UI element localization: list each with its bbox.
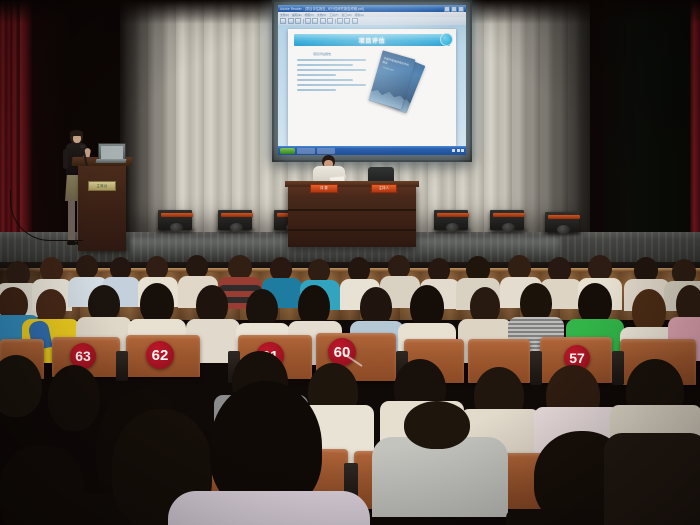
pdf-window-titlebar: Adobe Reader - [项目评估报告_可行性研究报告终稿.pdf] xyxy=(278,5,466,12)
head-table: 评 委 主持人 xyxy=(288,185,416,247)
podium-plaque: 主席台 xyxy=(88,181,116,191)
nameplate-left-text: 评 委 xyxy=(311,185,337,192)
monitor-grille xyxy=(437,213,469,217)
monitor-grille xyxy=(493,213,525,217)
prev-page-icon[interactable] xyxy=(337,18,343,24)
volume-icon[interactable] xyxy=(452,149,455,152)
table-panel-line xyxy=(288,229,416,231)
stage-monitor-speaker xyxy=(156,205,194,230)
red-curtain-right xyxy=(690,0,700,248)
menu-item-document[interactable]: 文档(D) xyxy=(317,13,326,17)
network-icon[interactable] xyxy=(457,149,460,152)
slide-text-line xyxy=(297,74,336,76)
taskbar-item-adobe-reader[interactable] xyxy=(297,148,315,154)
slide-text-line xyxy=(297,84,366,86)
projection-screen: Adobe Reader - [项目评估报告_可行性研究报告终稿.pdf] 文件… xyxy=(272,0,472,162)
podium-laptop xyxy=(96,143,126,165)
stage-monitor-speaker xyxy=(488,205,526,230)
monitor-body xyxy=(158,210,192,230)
taskbar-item-powerpoint[interactable] xyxy=(317,148,335,154)
audience-head xyxy=(76,255,98,279)
monitor-driver-icon xyxy=(502,223,515,232)
window-controls[interactable] xyxy=(444,6,464,12)
nameplate-right-text: 主持人 xyxy=(372,185,396,192)
save-icon[interactable] xyxy=(295,18,301,24)
seat-armrest xyxy=(530,351,542,385)
menu-item-help[interactable]: 帮助(H) xyxy=(355,13,364,17)
presenter-shoe xyxy=(67,241,76,245)
slide-text-line xyxy=(297,69,366,71)
toolbar-separator-2 xyxy=(335,19,336,24)
foreground-head-gray xyxy=(404,401,470,449)
slide-title: 项目评估 xyxy=(359,36,385,45)
menu-item-window[interactable]: 窗口(W) xyxy=(341,13,351,17)
seat-number-60: 60 xyxy=(328,338,356,366)
dark-curtain-right xyxy=(604,0,694,250)
slide-header-banner: 项目评估 xyxy=(294,34,450,46)
slide-bullet-list: 项目评估报告 xyxy=(297,52,369,94)
slide-logo-icon xyxy=(440,33,453,46)
stage-monitor-speaker xyxy=(543,207,581,232)
booklet-wave-graphic xyxy=(369,80,407,109)
pdf-document-area[interactable]: 项目评估 项目评估报告 xyxy=(278,25,466,146)
system-tray[interactable] xyxy=(452,149,464,152)
head-table-top xyxy=(285,181,419,187)
hand-tool-icon[interactable] xyxy=(312,18,318,24)
select-tool-icon[interactable] xyxy=(305,18,311,24)
curtain-left-shadow xyxy=(120,0,180,232)
slide-text-line xyxy=(297,64,353,66)
start-button[interactable] xyxy=(280,148,295,154)
presenter-hair xyxy=(70,130,83,136)
monitor-driver-icon xyxy=(446,223,459,232)
document-page: 项目评估 项目评估报告 xyxy=(288,29,456,146)
laptop-display xyxy=(101,146,123,159)
foreground-body-center xyxy=(168,491,370,525)
monitor-driver-icon xyxy=(230,223,243,232)
open-file-icon[interactable] xyxy=(280,18,286,24)
menu-item-view[interactable]: 视图(V) xyxy=(305,13,314,17)
minimize-icon[interactable] xyxy=(444,6,450,12)
foreground-head-far-left xyxy=(0,445,84,525)
menu-item-edit[interactable]: 编辑(E) xyxy=(292,13,301,17)
monitor-grille xyxy=(161,213,193,217)
projected-desktop: Adobe Reader - [项目评估报告_可行性研究报告终稿.pdf] 文件… xyxy=(278,5,466,155)
seat-number-62: 62 xyxy=(146,341,174,369)
audience-area: 63 62 61 60 57 xyxy=(0,255,700,525)
slide-text-line xyxy=(297,59,366,61)
close-icon[interactable] xyxy=(458,6,464,12)
monitor-body xyxy=(434,210,468,230)
clock-icon[interactable] xyxy=(461,149,464,152)
monitor-driver-icon xyxy=(170,223,183,232)
pdf-window-title: Adobe Reader - [项目评估报告_可行性研究报告终稿.pdf] xyxy=(280,6,364,11)
audience-head xyxy=(48,365,100,431)
monitor-body xyxy=(218,210,252,230)
toolbar-separator xyxy=(303,19,304,24)
monitor-body xyxy=(545,212,579,232)
auditorium-photo: Adobe Reader - [项目评估报告_可行性研究报告终稿.pdf] 文件… xyxy=(0,0,700,525)
monitor-grille xyxy=(548,215,580,219)
print-icon[interactable] xyxy=(288,18,294,24)
presenter-left-arm xyxy=(63,149,68,169)
laptop-keyboard xyxy=(96,159,127,163)
monitor-body xyxy=(490,210,524,230)
zoom-in-icon[interactable] xyxy=(327,18,333,24)
zoom-out-icon[interactable] xyxy=(320,18,326,24)
seat-62[interactable]: 62 xyxy=(126,335,200,377)
slide-body: 项目评估报告 项目评估汇编 xyxy=(294,48,450,145)
table-panel-line xyxy=(288,209,416,211)
slide-text-line xyxy=(297,79,353,81)
maximize-icon[interactable] xyxy=(451,6,457,12)
stage-monitor-speaker xyxy=(432,205,470,230)
stage-monitor-speaker xyxy=(216,205,254,230)
foreground-body-gray xyxy=(372,437,508,517)
podium-lectern: 主席台 xyxy=(78,163,126,251)
monitor-driver-icon xyxy=(557,225,570,234)
curtain-right-shadow xyxy=(500,0,592,232)
search-icon[interactable] xyxy=(352,18,358,24)
nameplate-right: 主持人 xyxy=(371,184,397,193)
next-page-icon[interactable] xyxy=(344,18,350,24)
podium-plaque-text: 主席台 xyxy=(89,182,115,190)
seat-armrest xyxy=(612,351,624,385)
menu-item-file[interactable]: 文件(F) xyxy=(280,13,289,17)
seat-armrest xyxy=(116,351,128,381)
slide-text-line xyxy=(297,89,336,91)
microphone-head xyxy=(80,145,85,148)
nameplate-left: 评 委 xyxy=(310,184,338,193)
slide-caption: 项目评估报告 xyxy=(297,52,347,56)
monitor-grille xyxy=(221,213,253,217)
windows-taskbar[interactable] xyxy=(278,146,466,155)
menu-item-tools[interactable]: 工具(T) xyxy=(329,13,338,17)
foreground-body-far-right xyxy=(604,433,700,525)
